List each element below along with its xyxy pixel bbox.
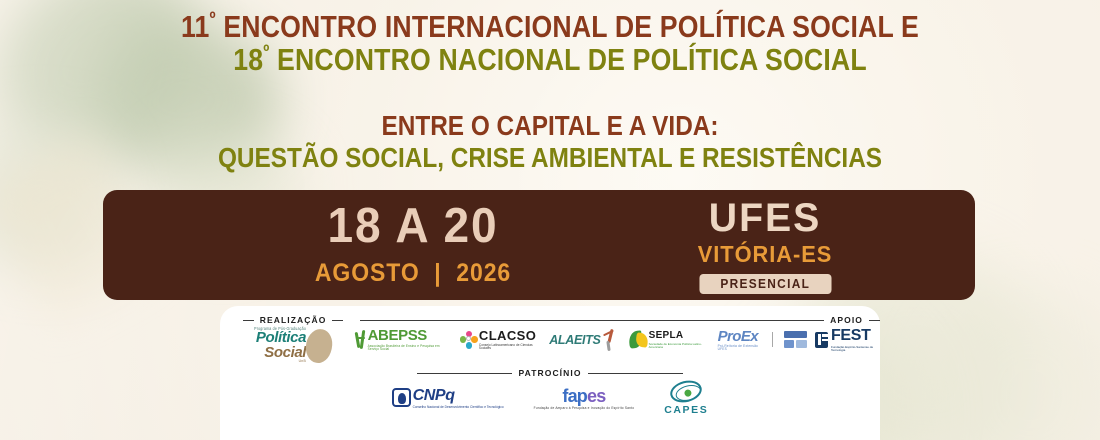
event-date-month-year: AGOSTO | 2026 — [261, 259, 565, 288]
cnpq-mark-icon — [392, 388, 411, 407]
section-apoio-header: APOIO — [356, 315, 880, 325]
sepla-leaf-icon — [629, 330, 647, 350]
section-apoio: APOIO ABEPSS Associação Brasileira de En… — [356, 315, 880, 352]
sepla-sub: Sociedade de Economia Política Latino-Am… — [649, 343, 707, 349]
logo-proex[interactable]: ProEx Pró-Reitoria de Extensão UFES — [718, 329, 762, 351]
logo-alaeits[interactable]: ALAEITS — [549, 329, 617, 351]
abepss-sub: Associação Brasileira de Ensino e Pesqui… — [368, 345, 449, 351]
title-line-2: 18º ENCONTRO NACIONAL DE POLÍTICA SOCIAL — [77, 43, 1023, 76]
event-title: 11º ENCONTRO INTERNACIONAL DE POLÍTICA S… — [0, 10, 1100, 76]
logo-fapes[interactable]: fapes Fundação de Amparo à Pesquisa e In… — [534, 387, 635, 410]
venue-name: UFES — [638, 198, 893, 238]
logo-capes[interactable]: CAPES — [664, 381, 708, 416]
section-patrocinio-title: PATROCÍNIO — [518, 368, 581, 378]
logo-politica-social[interactable]: Programa de Pós-Graduação Política Socia… — [254, 328, 332, 363]
abepss-label: ABEPSS — [368, 328, 449, 343]
clacso-label: CLACSO — [479, 329, 538, 342]
politica-social-tagline: Programa de Pós-Graduação — [254, 328, 306, 332]
event-date-days: 18 A 20 — [258, 202, 568, 251]
event-date-block: 18 A 20 AGOSTO | 2026 — [248, 202, 578, 288]
sponsors-card: REALIZAÇÃO Programa de Pós-Graduação Pol… — [220, 306, 880, 440]
fest-mark-icon — [815, 332, 828, 348]
subtitle-line-1: ENTRE O CAPITAL E A VIDA: — [72, 110, 1029, 142]
logo-ufes-mark[interactable] — [784, 331, 804, 348]
section-realizacao-header: REALIZAÇÃO — [230, 315, 356, 325]
cnpq-sub: Conselho Nacional de Desenvolvimento Cie… — [413, 406, 504, 409]
clacso-sub: Consejo Latinoamericano de Ciencias Soci… — [479, 344, 538, 350]
logo-divider — [772, 332, 773, 347]
logo-abepss[interactable]: ABEPSS Associação Brasileira de Ensino e… — [356, 328, 449, 351]
venue-city: VITÓRIA-ES — [642, 241, 889, 268]
section-realizacao: REALIZAÇÃO Programa de Pós-Graduação Pol… — [230, 315, 356, 363]
capes-eye-icon — [668, 378, 704, 406]
event-subtitle: ENTRE O CAPITAL E A VIDA: QUESTÃO SOCIAL… — [0, 110, 1100, 174]
section-realizacao-title: REALIZAÇÃO — [260, 315, 327, 325]
logo-clacso[interactable]: CLACSO Consejo Latinoamericano de Cienci… — [460, 329, 538, 350]
cnpq-label: CNPq — [413, 388, 504, 404]
fest-label: FEST — [831, 328, 880, 344]
fapes-label: fapes — [562, 387, 605, 405]
section-patrocinio-header: PATROCÍNIO — [417, 368, 683, 378]
event-banner: 11º ENCONTRO INTERNACIONAL DE POLÍTICA S… — [0, 0, 1100, 440]
section-patrocinio: PATROCÍNIO CNPq Conselho Nacional de Des… — [220, 368, 880, 416]
event-venue-block: UFES VITÓRIA-ES PRESENCIAL — [635, 198, 895, 294]
sepla-label: SEPLA — [649, 331, 707, 341]
capes-label: CAPES — [664, 404, 708, 416]
politica-social-word2: Social — [264, 346, 306, 360]
subtitle-line-2: QUESTÃO SOCIAL, CRISE AMBIENTAL E RESIST… — [72, 142, 1029, 174]
logo-sepla[interactable]: SEPLA Sociedade de Economia Política Lat… — [629, 330, 707, 350]
fest-sub: Fundação Espírito-Santense de Tecnologia — [831, 346, 880, 352]
seed-icon — [303, 326, 336, 365]
politica-social-sub: UnB — [299, 360, 307, 363]
alaeits-label: ALAEITS — [549, 333, 600, 347]
clacso-flower-icon — [460, 331, 476, 349]
proex-sub: Pró-Reitoria de Extensão UFES — [718, 345, 762, 351]
fapes-sub: Fundação de Amparo à Pesquisa e Inovação… — [534, 407, 635, 410]
logo-fest[interactable]: FEST Fundação Espírito-Santense de Tecno… — [815, 328, 880, 352]
modality-badge: PRESENCIAL — [699, 274, 831, 294]
section-apoio-title: APOIO — [830, 315, 863, 325]
event-info-bar: 18 A 20 AGOSTO | 2026 UFES VITÓRIA-ES PR… — [103, 190, 975, 300]
proex-label: ProEx — [718, 329, 762, 344]
logo-cnpq[interactable]: CNPq Conselho Nacional de Desenvolviment… — [392, 388, 504, 409]
abepss-figure-icon — [356, 330, 365, 350]
alaeits-figure-icon — [602, 329, 618, 351]
title-line-1: 11º ENCONTRO INTERNACIONAL DE POLÍTICA S… — [77, 10, 1023, 43]
